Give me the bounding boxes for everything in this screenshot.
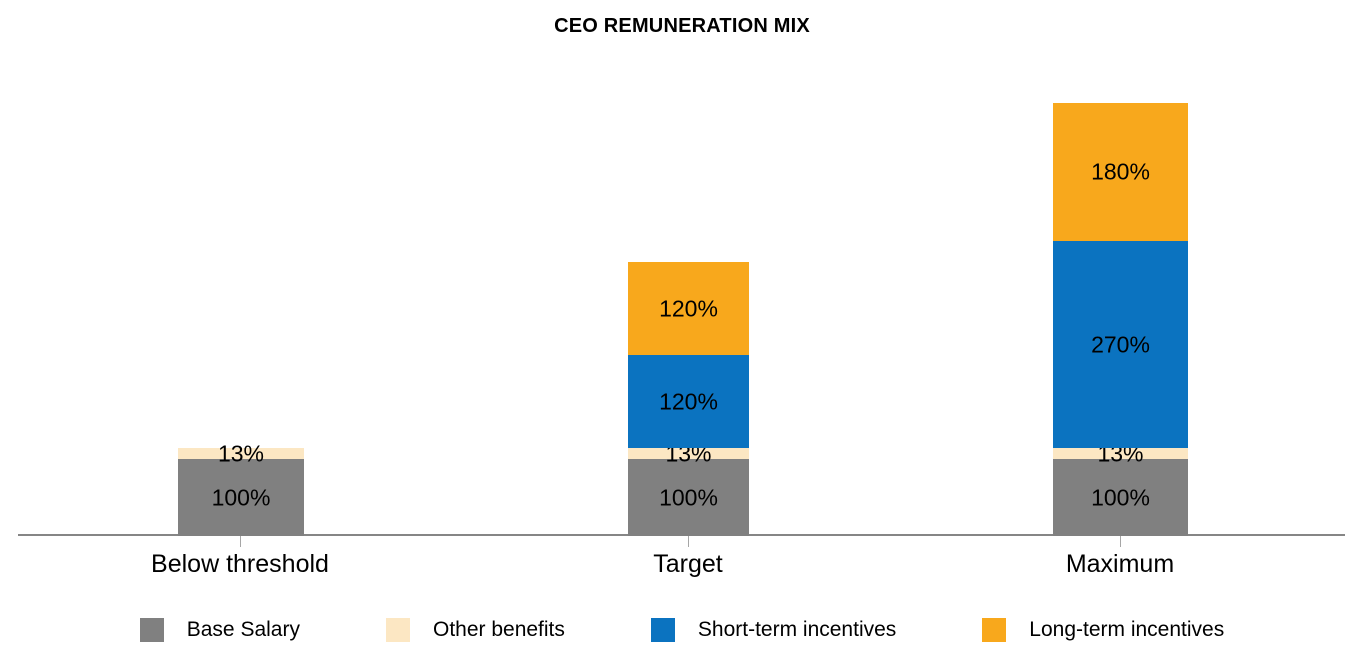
bar-stack: 100% 13% 270% 180% bbox=[1053, 103, 1188, 536]
legend-swatch-icon bbox=[651, 618, 675, 642]
bar-group-target[interactable]: 100% 13% 120% 120% bbox=[628, 2, 749, 536]
category-label-below-threshold: Below threshold bbox=[90, 549, 390, 579]
category-label-target: Target bbox=[538, 549, 838, 579]
bar-segment-short-term-incentives[interactable]: 270% bbox=[1053, 241, 1188, 448]
legend-label: Base Salary bbox=[187, 618, 300, 642]
bar-segment-label: 100% bbox=[178, 485, 304, 510]
legend-swatch-icon bbox=[140, 618, 164, 642]
bar-segment-label: 120% bbox=[628, 296, 749, 321]
legend-item-other-benefits[interactable]: Other benefits bbox=[386, 618, 565, 642]
bar-segment-label: 100% bbox=[1053, 485, 1188, 510]
bar-group-below-threshold[interactable]: 100% 13% bbox=[178, 2, 304, 536]
bar-segment-short-term-incentives[interactable]: 120% bbox=[628, 355, 749, 448]
legend-item-base-salary[interactable]: Base Salary bbox=[140, 618, 300, 642]
bar-segment-other-benefits[interactable]: 13% bbox=[1053, 448, 1188, 459]
legend-label: Long-term incentives bbox=[1029, 618, 1224, 642]
bar-segment-label: 180% bbox=[1053, 160, 1188, 185]
bar-segment-label: 13% bbox=[178, 441, 304, 466]
bar-segment-base-salary[interactable]: 100% bbox=[628, 459, 749, 536]
bar-segment-long-term-incentives[interactable]: 120% bbox=[628, 262, 749, 355]
bar-segment-other-benefits[interactable]: 13% bbox=[178, 448, 304, 459]
category-label-maximum: Maximum bbox=[970, 549, 1270, 579]
bar-segment-long-term-incentives[interactable]: 180% bbox=[1053, 103, 1188, 241]
bar-stack: 100% 13% bbox=[178, 448, 304, 536]
bar-segment-label: 270% bbox=[1053, 332, 1188, 357]
plot-area: 100% 13% 100% 13% 120% 120% bbox=[0, 0, 1364, 536]
legend-swatch-icon bbox=[982, 618, 1006, 642]
bar-group-maximum[interactable]: 100% 13% 270% 180% bbox=[1053, 2, 1188, 536]
chart-legend: Base Salary Other benefits Short-term in… bbox=[0, 618, 1364, 642]
axis-tick-2 bbox=[1120, 536, 1121, 547]
axis-tick-0 bbox=[240, 536, 241, 547]
legend-label: Other benefits bbox=[433, 618, 565, 642]
bar-segment-other-benefits[interactable]: 13% bbox=[628, 448, 749, 459]
legend-item-short-term-incentives[interactable]: Short-term incentives bbox=[651, 618, 896, 642]
bar-segment-label: 120% bbox=[628, 389, 749, 414]
bar-segment-base-salary[interactable]: 100% bbox=[178, 459, 304, 536]
legend-swatch-icon bbox=[386, 618, 410, 642]
chart-container: CEO REMUNERATION MIX 100% 13% 100% bbox=[0, 0, 1364, 672]
axis-tick-1 bbox=[688, 536, 689, 547]
bar-stack: 100% 13% 120% 120% bbox=[628, 262, 749, 536]
legend-item-long-term-incentives[interactable]: Long-term incentives bbox=[982, 618, 1224, 642]
legend-label: Short-term incentives bbox=[698, 618, 896, 642]
bar-segment-label: 100% bbox=[628, 485, 749, 510]
bar-segment-base-salary[interactable]: 100% bbox=[1053, 459, 1188, 536]
